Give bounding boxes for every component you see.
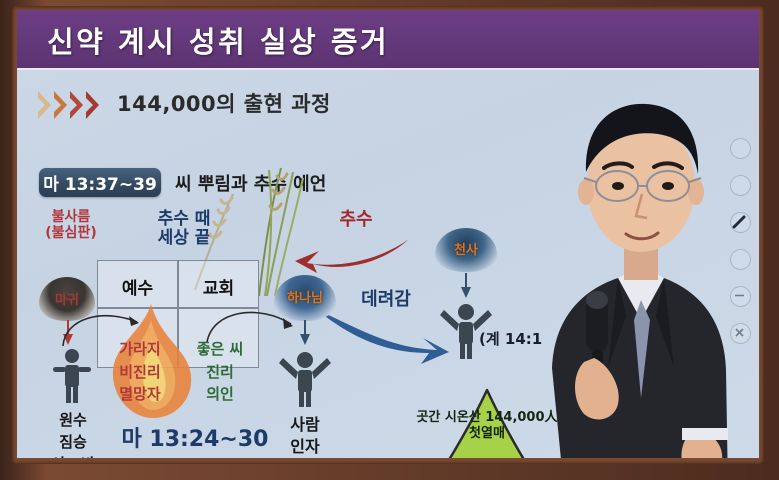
label-harvest: 추수 (313, 210, 399, 230)
minus-icon[interactable] (730, 286, 751, 307)
taken-away-arrow (313, 304, 451, 366)
label-son-of-man: 사람 인자 예수님 (257, 414, 353, 458)
slide-title-banner: 신약 계시 성취 실상 증거 (17, 10, 759, 70)
label-burning: 불사름 (불심판) (25, 210, 117, 241)
note-icon[interactable] (730, 249, 751, 270)
presentation-slide: 신약 계시 성취 실상 증거 144,000의 출현 과정 (17, 10, 759, 458)
label-angel: 천사 (435, 239, 497, 258)
label-god: 하나님 (274, 287, 336, 306)
chevron-right-icon-4 (85, 90, 105, 120)
label-tares-column: 가라지 비진리 멸망자 (99, 338, 181, 406)
close-icon[interactable] (730, 323, 751, 344)
presenter (522, 68, 752, 458)
verse-badge: 마 13:37~39 (39, 168, 161, 197)
figure-enemy-icon (51, 348, 93, 404)
circle-icon[interactable] (730, 175, 751, 196)
bottom-reference: 마 13:24~30 (115, 428, 275, 453)
grid-label-jesus: 예수 (97, 274, 178, 299)
god-down-arrow-icon (298, 320, 312, 346)
angel-down-arrow-icon (459, 273, 473, 299)
grid-label-church: 교회 (178, 274, 259, 299)
pen-icon[interactable] (730, 212, 751, 233)
cursor-icon[interactable] (730, 138, 751, 159)
figure-son-of-man-icon (279, 346, 331, 408)
chevron-group (37, 90, 109, 120)
curve-arrow-left (59, 306, 141, 348)
screenshot-root: 신약 계시 성취 실상 증거 144,000의 출현 과정 (0, 0, 779, 480)
label-enemy: 원수 짐승 서 · 바 (27, 410, 119, 458)
display-toolbar[interactable] (727, 138, 753, 360)
slide-title: 신약 계시 성취 실상 증거 (47, 19, 389, 61)
slide-headline: 144,000의 출현 과정 (117, 88, 331, 118)
